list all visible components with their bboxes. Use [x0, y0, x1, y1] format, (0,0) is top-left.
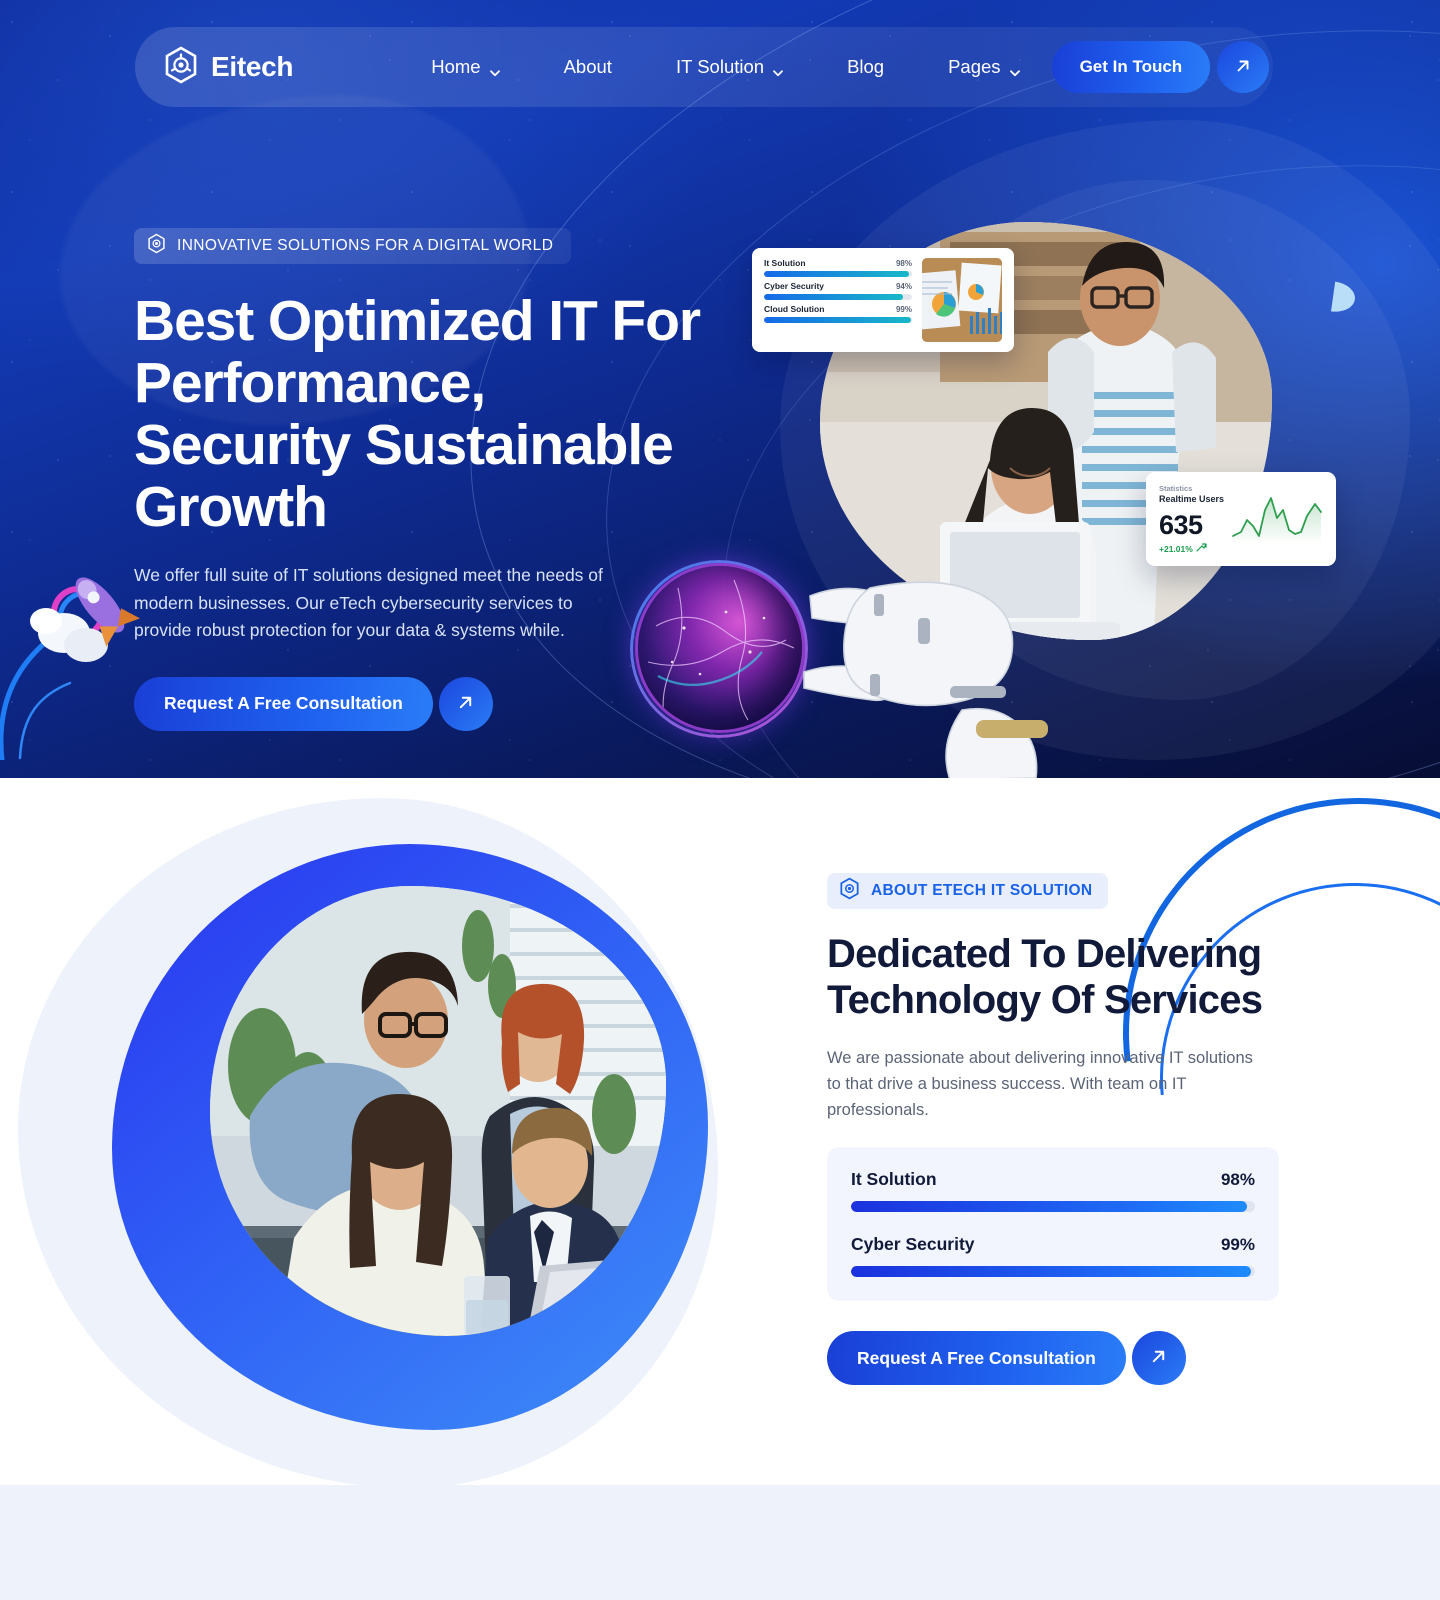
realtime-users-sparkline: [1231, 488, 1323, 551]
nav-links: Home About IT Solution Blog: [399, 56, 1051, 78]
hexagon-logo-icon: [163, 46, 199, 89]
about-description: We are passionate about delivering innov…: [827, 1045, 1267, 1123]
hero-cta-group: Request A Free Consultation: [134, 677, 734, 731]
chevron-down-icon: [772, 62, 783, 73]
skill-row: It Solution 98%: [764, 258, 912, 277]
skill-track: [764, 317, 912, 323]
nav-item-home[interactable]: Home: [399, 56, 531, 78]
stats-delta: +21.01%: [1159, 542, 1224, 555]
nav-actions: Get In Touch: [1052, 41, 1270, 93]
hero-stats-card: Statistics Realtime Users 635 +21.01%: [1146, 472, 1336, 566]
about-badge-label: ABOUT ETECH IT SOLUTION: [871, 882, 1092, 900]
nav-item-pages[interactable]: Pages: [916, 56, 1051, 78]
skill-label: Cyber Security: [764, 281, 824, 291]
chevron-down-icon: [1009, 62, 1020, 73]
about-title: Dedicated To Delivering Technology Of Se…: [827, 931, 1277, 1023]
about-badge: ABOUT ETECH IT SOLUTION: [827, 873, 1108, 909]
stats-label: Statistics: [1159, 484, 1224, 493]
stats-text: Statistics Realtime Users 635 +21.01%: [1159, 484, 1224, 554]
hexagon-logo-icon: [147, 233, 166, 259]
about-progress-card: It Solution 98% Cyber Security 99%: [827, 1147, 1279, 1301]
about-request-consultation-arrow-button[interactable]: [1132, 1331, 1186, 1385]
progress-value: 99%: [1221, 1235, 1255, 1255]
hero-request-consultation-button[interactable]: Request A Free Consultation: [134, 677, 433, 731]
hero-section: Eitech Home About IT Solution: [0, 0, 1440, 778]
skill-track: [764, 271, 912, 277]
nav-item-home-label: Home: [431, 56, 480, 78]
nav-item-blog[interactable]: Blog: [815, 56, 916, 78]
nav-item-it-solution-label: IT Solution: [676, 56, 764, 78]
nav-item-pages-label: Pages: [948, 56, 1000, 78]
get-in-touch-arrow-button[interactable]: [1217, 41, 1269, 93]
hero-request-consultation-arrow-button[interactable]: [439, 677, 493, 731]
nav-item-about-label: About: [564, 56, 612, 78]
skill-row: Cyber Security 94%: [764, 281, 912, 300]
nav-item-about[interactable]: About: [532, 56, 644, 78]
robot-hand-decoration: [800, 560, 1060, 778]
skill-fill: [764, 317, 911, 323]
hero-content: INNOVATIVE SOLUTIONS FOR A DIGITAL WORLD…: [134, 228, 734, 731]
progress-row: It Solution 98%: [851, 1169, 1255, 1212]
skill-value: 99%: [896, 305, 912, 314]
hero-badge-label: INNOVATIVE SOLUTIONS FOR A DIGITAL WORLD: [177, 237, 553, 255]
progress-fill: [851, 1266, 1251, 1277]
progress-track: [851, 1201, 1255, 1212]
progress-label: It Solution: [851, 1169, 937, 1190]
hexagon-logo-icon: [839, 877, 860, 905]
hero-description: We offer full suite of IT solutions desi…: [134, 562, 614, 645]
skill-fill: [764, 294, 903, 300]
trend-up-icon: [1196, 542, 1207, 555]
progress-track: [851, 1266, 1255, 1277]
stats-sublabel: Realtime Users: [1159, 494, 1224, 504]
landing-page: Eitech Home About IT Solution: [0, 0, 1440, 1600]
skill-card-thumbnail: [922, 258, 1002, 342]
arrow-up-right-icon: [1233, 56, 1253, 79]
progress-value: 98%: [1221, 1170, 1255, 1190]
hero-skill-card: It Solution 98% Cyber Security 94%: [752, 248, 1014, 352]
hero-badge: INNOVATIVE SOLUTIONS FOR A DIGITAL WORLD: [134, 228, 571, 264]
skill-value: 94%: [896, 282, 912, 291]
progress-row: Cyber Security 99%: [851, 1234, 1255, 1277]
stats-value: 635: [1159, 510, 1224, 540]
skill-value: 98%: [896, 259, 912, 268]
skill-row: Cloud Solution 99%: [764, 304, 912, 323]
progress-fill: [851, 1201, 1247, 1212]
skill-label: Cloud Solution: [764, 304, 824, 314]
about-cta-group: Request A Free Consultation: [827, 1331, 1287, 1385]
chevron-down-icon: [489, 62, 500, 73]
get-in-touch-button[interactable]: Get In Touch: [1052, 41, 1211, 93]
brand-logo[interactable]: Eitech: [163, 46, 293, 89]
arrow-up-right-icon: [1148, 1346, 1169, 1370]
skill-fill: [764, 271, 909, 277]
arrow-up-right-icon: [455, 692, 476, 716]
hero-title: Best Optimized IT For Performance, Secur…: [134, 290, 714, 538]
progress-label: Cyber Security: [851, 1234, 975, 1255]
skill-list: It Solution 98% Cyber Security 94%: [764, 258, 912, 342]
main-navbar: Eitech Home About IT Solution: [135, 27, 1273, 107]
about-content: ABOUT ETECH IT SOLUTION Dedicated To Del…: [827, 873, 1287, 1385]
brand-name: Eitech: [211, 51, 293, 83]
skill-label: It Solution: [764, 258, 806, 268]
skill-track: [764, 294, 912, 300]
nav-item-it-solution[interactable]: IT Solution: [644, 56, 815, 78]
page-bottom-strip: [0, 1485, 1440, 1600]
about-request-consultation-button[interactable]: Request A Free Consultation: [827, 1331, 1126, 1385]
nav-item-blog-label: Blog: [847, 56, 884, 78]
stats-delta-value: +21.01%: [1159, 544, 1193, 554]
